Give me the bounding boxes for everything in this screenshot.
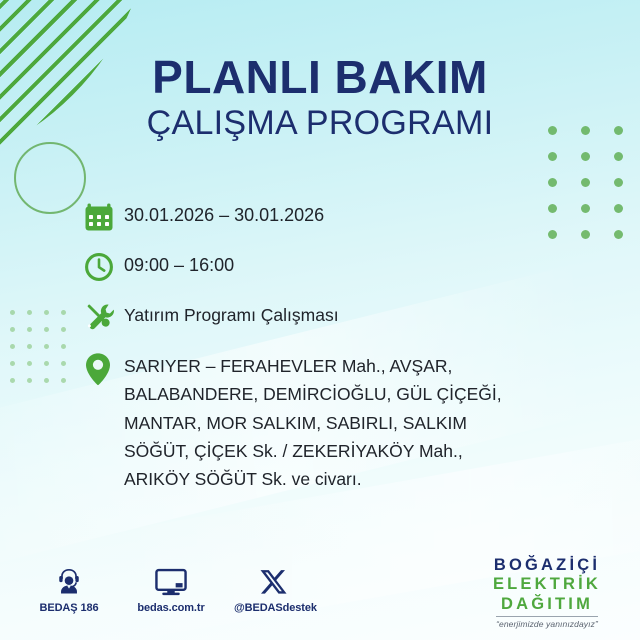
footer-item-call-center[interactable]: BEDAŞ 186 — [30, 562, 108, 614]
footer-label-x-account: @BEDASdestek — [234, 602, 312, 614]
monitor-icon — [132, 562, 210, 596]
address-line: SÖĞÜT, ÇİÇEK Sk. / ZEKERİYAKÖY Mah., — [124, 437, 502, 465]
page-subtitle: ÇALIŞMA PROGRAMI — [0, 105, 640, 142]
footer-item-website[interactable]: bedas.com.tr — [132, 562, 210, 614]
date-range-text: 30.01.2026 – 30.01.2026 — [124, 198, 324, 230]
right-dot-grid-decoration — [548, 126, 640, 256]
brand-line-elektrik: ELEKTRİK — [472, 575, 622, 594]
poster-header: PLANLI BAKIM ÇALIŞMA PROGRAMI — [0, 54, 640, 142]
address-line: MANTAR, MOR SALKIM, SABIRLI, SALKIM — [124, 409, 502, 437]
footer-contact-links: BEDAŞ 186 bedas.com.tr — [30, 562, 312, 614]
brand-line-dagitim: DAĞITIM — [472, 595, 622, 614]
address-line: SARIYER – FERAHEVLER Mah., AVŞAR, — [124, 352, 502, 380]
circle-outline-decoration — [14, 142, 86, 214]
calendar-icon — [84, 198, 124, 234]
address-line: BALABANDERE, DEMİRCİOĞLU, GÜL ÇİÇEĞİ, — [124, 380, 502, 408]
clock-icon — [84, 248, 124, 284]
maintenance-details: 30.01.2026 – 30.01.2026 09:00 – 16:00 — [84, 198, 554, 494]
company-logo: BOĞAZİÇİ ELEKTRİK DAĞITIM “enerjimizde y… — [472, 556, 622, 632]
tools-icon — [84, 298, 124, 334]
footer-label-website: bedas.com.tr — [132, 602, 210, 614]
planned-maintenance-poster: PLANLI BAKIM ÇALIŞMA PROGRAMI 30.01.2026… — [0, 0, 640, 640]
x-twitter-icon — [234, 562, 312, 596]
detail-row-work-type: Yatırım Programı Çalışması — [84, 298, 554, 334]
left-dot-grid-decoration — [10, 310, 78, 395]
footer-item-x-account[interactable]: @BEDASdestek — [234, 562, 312, 614]
call-center-agent-icon — [30, 562, 108, 596]
page-title: PLANLI BAKIM — [0, 54, 640, 101]
address-text: SARIYER – FERAHEVLER Mah., AVŞAR, BALABA… — [124, 348, 502, 494]
address-line: ARIKÖY SÖĞÜT Sk. ve civarı. — [124, 465, 502, 493]
poster-footer: BEDAŞ 186 bedas.com.tr — [0, 548, 640, 640]
detail-row-date: 30.01.2026 – 30.01.2026 — [84, 198, 554, 234]
footer-label-call-center: BEDAŞ 186 — [30, 602, 108, 614]
brand-line-bogazici: BOĞAZİÇİ — [472, 556, 622, 575]
detail-row-time: 09:00 – 16:00 — [84, 248, 554, 284]
detail-row-location: SARIYER – FERAHEVLER Mah., AVŞAR, BALABA… — [84, 348, 554, 494]
work-type-text: Yatırım Programı Çalışması — [124, 298, 339, 329]
time-range-text: 09:00 – 16:00 — [124, 248, 234, 280]
map-pin-icon — [84, 348, 124, 386]
brand-tagline: “enerjimizde yanınızdayız” — [496, 616, 598, 629]
